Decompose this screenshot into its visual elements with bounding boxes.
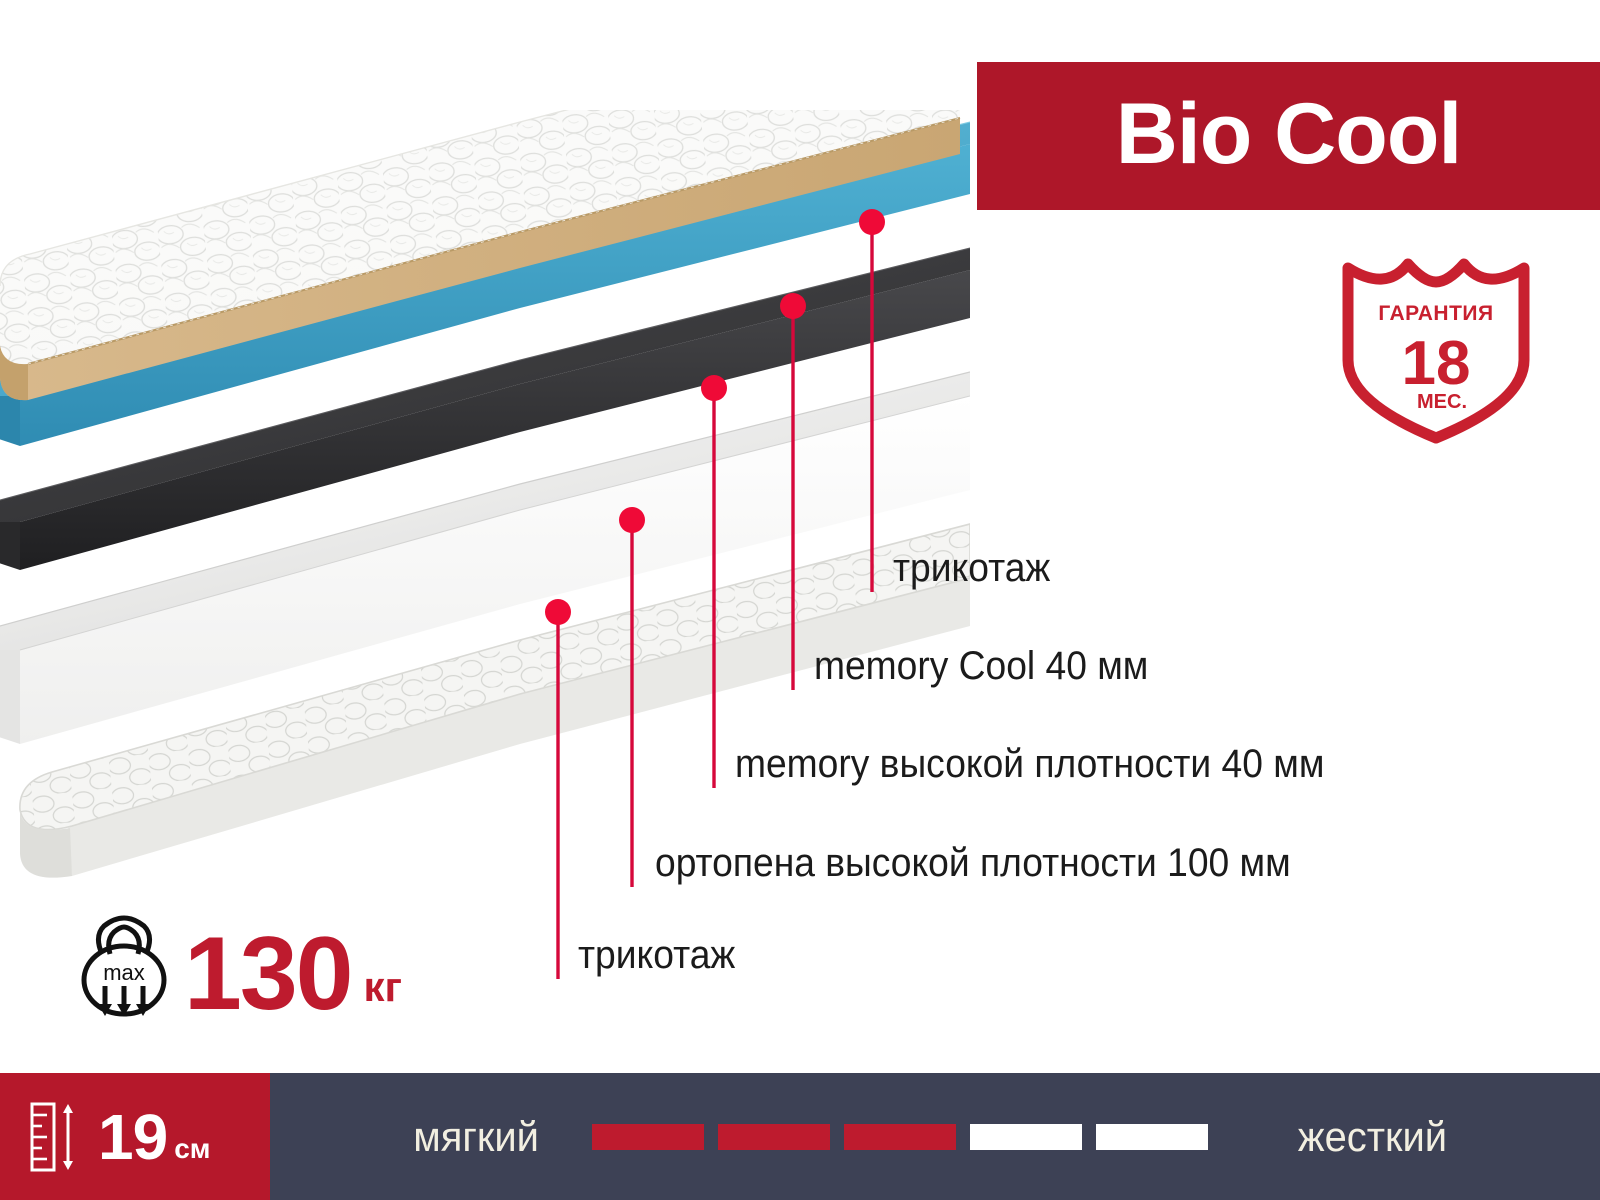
guarantee-top-label: ГАРАНТИЯ [1378, 302, 1493, 325]
firmness-segment-1 [592, 1124, 704, 1150]
kettlebell-weight-icon: max [76, 914, 172, 1018]
bottom-bar: 19 см мягкий жесткий [0, 1073, 1600, 1200]
firmness-soft-label: мягкий [413, 1113, 539, 1161]
weight-icon-max-label: max [103, 960, 145, 985]
firmness-scale-block: мягкий жесткий [270, 1073, 1600, 1200]
ruler-icon [30, 1101, 80, 1173]
infographic-canvas: трикотаж memory Cool 40 мм memory высоко… [0, 0, 1600, 1200]
layer-label-memory-hd: memory высокой плотности 40 мм [735, 742, 1324, 787]
max-weight-unit: кг [364, 966, 403, 1008]
layer-label-knit-bottom: трикотаж [578, 933, 735, 978]
firmness-segment-3 [844, 1124, 956, 1150]
height-block: 19 см [0, 1073, 270, 1200]
firmness-segment-4 [970, 1124, 1082, 1150]
firmness-segment-5 [1096, 1124, 1208, 1150]
firmness-segments [592, 1124, 1222, 1150]
layer-label-memory-cool: memory Cool 40 мм [814, 644, 1148, 689]
product-title-banner: Bio Cool [977, 62, 1600, 210]
max-weight-block: max 130 кг [76, 908, 402, 1018]
height-unit: см [174, 1135, 210, 1163]
guarantee-badge: ГАРАНТИЯ 18 МЕС. [1332, 252, 1540, 444]
layer-label-ortho: ортопена высокой плотности 100 мм [655, 841, 1291, 886]
page-title: Bio Cool [1116, 91, 1462, 177]
guarantee-value: 18 [1402, 329, 1471, 398]
guarantee-bottom-label: МЕС. [1417, 391, 1467, 413]
height-value: 19 [98, 1105, 167, 1169]
max-weight-value: 130 [184, 931, 352, 1018]
layer-label-knit-top: трикотаж [893, 546, 1050, 591]
mattress-layers-illustration [0, 110, 970, 920]
firmness-hard-label: жесткий [1298, 1113, 1447, 1161]
firmness-segment-2 [718, 1124, 830, 1150]
